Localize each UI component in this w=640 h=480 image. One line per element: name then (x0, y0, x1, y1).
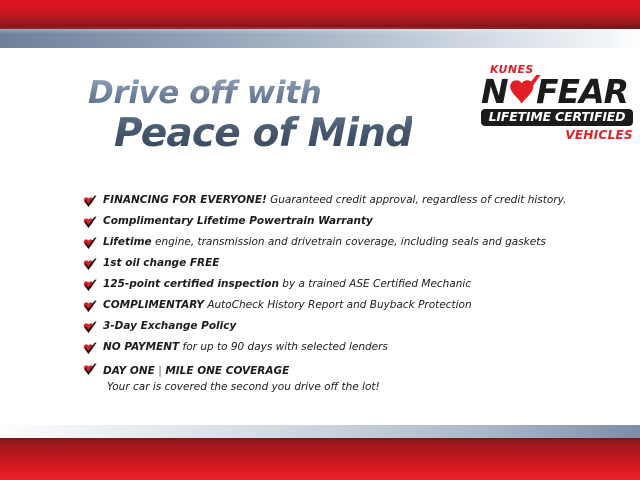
list-item-strong: DAY ONE (103, 365, 155, 377)
list-item: Complimentary Lifetime Powertrain Warran… (82, 214, 582, 235)
list-item-text: Complimentary Lifetime Powertrain Warran… (103, 214, 373, 229)
headline-line-2: Peace of Mind (114, 114, 412, 153)
headline: Drive off with Peace of Mind (88, 78, 412, 153)
list-item-text: Lifetime engine, transmission and drivet… (103, 235, 546, 250)
list-item-text: FINANCING FOR EVERYONE! Guaranteed credi… (103, 193, 566, 208)
top-red-band (0, 0, 640, 28)
list-item: 3-Day Exchange Policy (82, 319, 582, 340)
logo-letter-n: N (481, 76, 508, 107)
list-item-text: DAY ONE | MILE ONE COVERAGE (103, 365, 289, 377)
heart-check-icon (82, 342, 97, 356)
list-item-strong-2: MILE ONE COVERAGE (165, 365, 289, 377)
list-item-text: 1st oil change FREE (103, 256, 219, 271)
bottom-red-band (0, 438, 640, 480)
headline-line-1: Drive off with (88, 78, 412, 109)
heart-check-icon (82, 258, 97, 272)
list-item-subline: Your car is covered the second you drive… (107, 380, 380, 395)
heart-check-icon (82, 321, 97, 335)
logo-vehicles-text: VEHICLES (481, 129, 633, 141)
list-item-strong: 1st oil change FREE (103, 257, 219, 269)
heart-check-icon (82, 195, 97, 209)
benefits-list: FINANCING FOR EVERYONE! Guaranteed credi… (82, 193, 582, 395)
list-item-separator: | (158, 365, 162, 377)
promo-banner: Drive off with Peace of Mind KUNES N FEA… (0, 0, 640, 480)
bottom-silver-band (0, 425, 640, 438)
list-item: COMPLIMENTARY AutoCheck History Report a… (82, 298, 582, 319)
kunes-no-fear-logo: KUNES N FEAR LIFETIME CERTIFIED VEHICLES (481, 64, 633, 141)
list-item-strong: FINANCING FOR EVERYONE! (103, 194, 267, 206)
list-item: 125-point certified inspection by a trai… (82, 277, 582, 298)
heart-check-icon (82, 300, 97, 314)
heart-check-icon (82, 279, 97, 293)
list-item-rest: AutoCheck History Report and Buyback Pro… (204, 299, 472, 311)
logo-certified-text: LIFETIME CERTIFIED (489, 111, 626, 124)
list-item-rest: by a trained ASE Certified Mechanic (279, 278, 471, 290)
list-item-rest: engine, transmission and drivetrain cove… (152, 236, 546, 248)
list-item-rest: Guaranteed credit approval, regardless o… (267, 194, 567, 206)
list-item-strong: Lifetime (103, 236, 152, 248)
list-item-block: DAY ONE | MILE ONE COVERAGE Your car is … (103, 361, 380, 395)
list-item: NO PAYMENT for up to 90 days with select… (82, 340, 582, 361)
heart-check-icon (82, 237, 97, 251)
list-item: DAY ONE | MILE ONE COVERAGE Your car is … (82, 361, 582, 395)
list-item-text: COMPLIMENTARY AutoCheck History Report a… (103, 298, 472, 313)
logo-word-fear: FEAR (536, 76, 628, 107)
list-item: FINANCING FOR EVERYONE! Guaranteed credi… (82, 193, 582, 214)
list-item-text: 125-point certified inspection by a trai… (103, 277, 471, 292)
list-item-rest: for up to 90 days with selected lenders (179, 341, 388, 353)
logo-wordmark: N FEAR (481, 76, 633, 107)
list-item: Lifetime engine, transmission and drivet… (82, 235, 582, 256)
heart-check-icon (82, 216, 97, 230)
list-item-strong: 3-Day Exchange Policy (103, 320, 236, 332)
logo-certified-bar: LIFETIME CERTIFIED (481, 109, 633, 126)
list-item-strong: COMPLIMENTARY (103, 299, 204, 311)
heart-check-icon (82, 363, 97, 377)
list-item-text: NO PAYMENT for up to 90 days with select… (103, 340, 388, 355)
top-silver-band-sheen (0, 29, 640, 34)
list-item-strong: NO PAYMENT (103, 341, 179, 353)
list-item-strong: 125-point certified inspection (103, 278, 279, 290)
list-item-strong: Complimentary Lifetime Powertrain Warran… (103, 215, 373, 227)
list-item-text: 3-Day Exchange Policy (103, 319, 236, 334)
list-item: 1st oil change FREE (82, 256, 582, 277)
